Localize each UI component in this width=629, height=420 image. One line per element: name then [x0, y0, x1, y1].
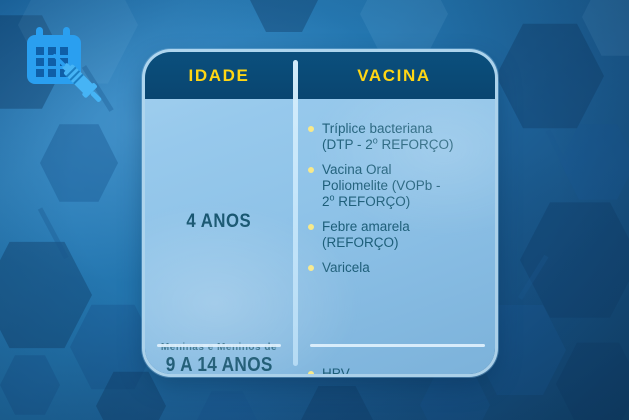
age-label-2: 9 A 14 ANOS — [165, 354, 272, 375]
vaccine-line: (REFORÇO) — [322, 235, 487, 251]
vaccine-line: (DTP - 2o REFORÇO) — [322, 137, 487, 153]
header-cell-vacina: VACINA — [293, 52, 495, 99]
row-separator-left — [157, 344, 281, 347]
vaccine-line: HPV — [322, 366, 487, 374]
column-vacina: Tríplice bacteriana(DTP - 2o REFORÇO)Vac… — [298, 99, 495, 374]
vaccine-line: 2o REFORÇO) — [322, 194, 487, 210]
vaccine-list-item: HPV — [306, 366, 487, 374]
vaccination-schedule-card: IDADE VACINA 4 ANOS Meninas e Meninos de… — [145, 52, 495, 374]
vaccine-line: Febre amarela — [322, 219, 487, 235]
column-idade: 4 ANOS Meninas e Meninos de 9 A 14 ANOS — [145, 99, 293, 374]
age-label-1: 4 ANOS — [187, 211, 252, 233]
vaccine-line: Poliomelite (VOPb - — [322, 178, 487, 194]
vaccine-list-item: Febre amarela(REFORÇO) — [306, 219, 487, 251]
table-row-age-cell-2: Meninas e Meninos de 9 A 14 ANOS — [145, 344, 293, 374]
vaccine-list-1: Tríplice bacteriana(DTP - 2o REFORÇO)Vac… — [306, 121, 487, 276]
vaccine-line: Varicela — [322, 260, 487, 276]
header-cell-idade: IDADE — [145, 52, 293, 99]
vaccine-list-2: HPV — [306, 366, 487, 374]
table-row-vaccines-cell-2: HPV — [298, 344, 495, 374]
row-separator-right — [310, 344, 485, 347]
vaccine-list-item: Varicela — [306, 260, 487, 276]
vaccine-list-item: Tríplice bacteriana(DTP - 2o REFORÇO) — [306, 121, 487, 153]
column-divider — [293, 60, 298, 366]
ordinal-marker: o — [330, 193, 335, 203]
header-label-vacina: VACINA — [357, 66, 431, 86]
table-header-row: IDADE VACINA — [145, 52, 495, 99]
vaccine-line: Vacina Oral — [322, 162, 487, 178]
vaccine-line: Tríplice bacteriana — [322, 121, 487, 137]
ordinal-marker: o — [373, 136, 378, 146]
table-row-age-cell-1: 4 ANOS — [145, 99, 293, 344]
header-label-idade: IDADE — [189, 66, 250, 86]
poster-canvas: IDADE VACINA 4 ANOS Meninas e Meninos de… — [0, 0, 629, 420]
table-row-vaccines-cell-1: Tríplice bacteriana(DTP - 2o REFORÇO)Vac… — [298, 99, 495, 344]
calendar-syringe-icon — [18, 22, 110, 110]
vaccine-list-item: Vacina OralPoliomelite (VOPb -2o REFORÇO… — [306, 162, 487, 210]
